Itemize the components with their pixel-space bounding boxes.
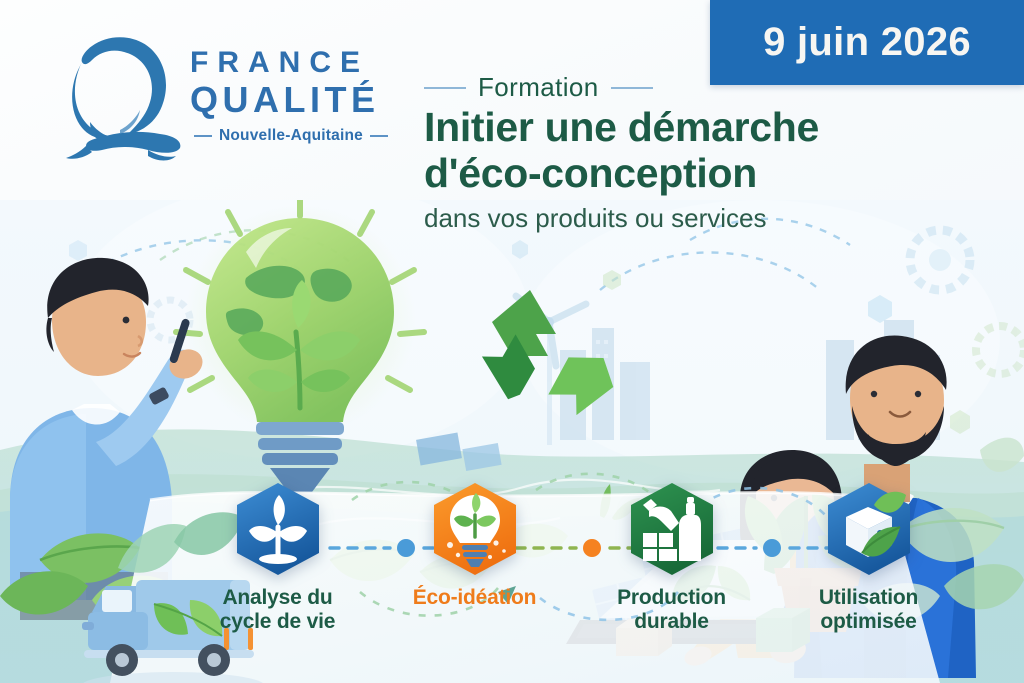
page-subtitle: dans vos produits ou services <box>424 203 894 234</box>
poster-canvas: FRANCE QUALITÉ Nouvelle-Aquitaine Format… <box>0 0 1024 683</box>
step-eco-ideation[interactable]: Éco-idéation <box>387 481 562 610</box>
france-qualite-logo: FRANCE QUALITÉ Nouvelle-Aquitaine <box>62 28 412 168</box>
title-line-2: d'éco-conception <box>424 151 894 197</box>
logo-line-qualite: QUALITÉ <box>190 81 420 119</box>
step-3-label-line2: durable <box>617 610 726 634</box>
step-3-label: Production durable <box>617 586 726 633</box>
step-1-label: Analyse du cycle de vie <box>220 586 336 633</box>
step-4-hex[interactable] <box>822 481 916 577</box>
date-badge: 9 juin 2026 <box>710 0 1024 85</box>
step-2-label-line1: Éco-idéation <box>413 586 537 610</box>
eco-package-icon <box>822 481 916 577</box>
header-text-block: Formation Initier une démarche d'éco-con… <box>424 72 894 234</box>
step-analyse-cycle-de-vie[interactable]: Analyse du cycle de vie <box>190 481 365 633</box>
region-rule-left <box>194 135 212 137</box>
step-utilisation-optimisee[interactable]: Utilisation optimisée <box>781 481 956 633</box>
logo-region-label: Nouvelle-Aquitaine <box>219 127 363 145</box>
lightbulb-plant-icon <box>428 481 522 577</box>
step-3-hex[interactable] <box>625 481 719 577</box>
kicker-label: Formation <box>478 72 599 103</box>
page-title: Initier une démarche d'éco-conception <box>424 105 894 197</box>
step-production-durable[interactable]: Production durable <box>584 481 759 633</box>
brush-q-icon <box>62 30 184 170</box>
region-rule-right <box>370 135 388 137</box>
step-4-label-line2: optimisée <box>819 610 918 634</box>
step-4-label: Utilisation optimisée <box>819 586 918 633</box>
step-1-label-line1: Analyse du <box>220 586 336 610</box>
step-1-label-line2: cycle de vie <box>220 610 336 634</box>
title-line-1: Initier une démarche <box>424 105 894 151</box>
logo-line-france: FRANCE <box>190 48 420 78</box>
logo-region-row: Nouvelle-Aquitaine <box>194 127 420 145</box>
step-3-label-line1: Production <box>617 586 726 610</box>
step-2-label: Éco-idéation <box>413 586 537 610</box>
step-4-label-line1: Utilisation <box>819 586 918 610</box>
step-1-hex[interactable] <box>231 481 325 577</box>
step-2-hex[interactable] <box>428 481 522 577</box>
factory-tools-icon <box>625 481 719 577</box>
kicker-rule-right <box>611 87 653 89</box>
sprout-icon <box>231 481 325 577</box>
steps-row: Analyse du cycle de vie <box>0 481 1024 651</box>
logo-wordmark: FRANCE QUALITÉ Nouvelle-Aquitaine <box>190 48 420 145</box>
date-badge-label: 9 juin 2026 <box>763 20 971 65</box>
kicker-rule-left <box>424 87 466 89</box>
